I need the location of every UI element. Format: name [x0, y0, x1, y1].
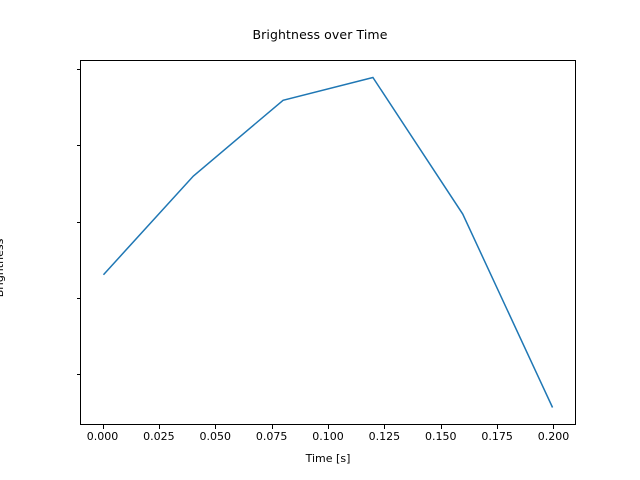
x-axis-label: Time [s] — [80, 452, 576, 465]
x-tick-mark — [497, 425, 498, 429]
data-line-canvas — [81, 61, 575, 424]
y-axis-label: Brightness — [0, 208, 6, 328]
x-tick-mark — [328, 425, 329, 429]
chart-title: Brightness over Time — [0, 27, 640, 42]
x-tick-mark — [103, 425, 104, 429]
x-tick-mark — [215, 425, 216, 429]
x-tick-mark — [272, 425, 273, 429]
plot-area — [80, 60, 576, 425]
matplotlib-figure: Brightness over Time Brightness Time [s]… — [0, 0, 640, 480]
data-series-brightness — [103, 77, 552, 407]
x-tick-mark — [553, 425, 554, 429]
x-tick-label: 0.200 — [513, 430, 593, 443]
x-tick-mark — [159, 425, 160, 429]
x-tick-mark — [441, 425, 442, 429]
x-tick-mark — [384, 425, 385, 429]
